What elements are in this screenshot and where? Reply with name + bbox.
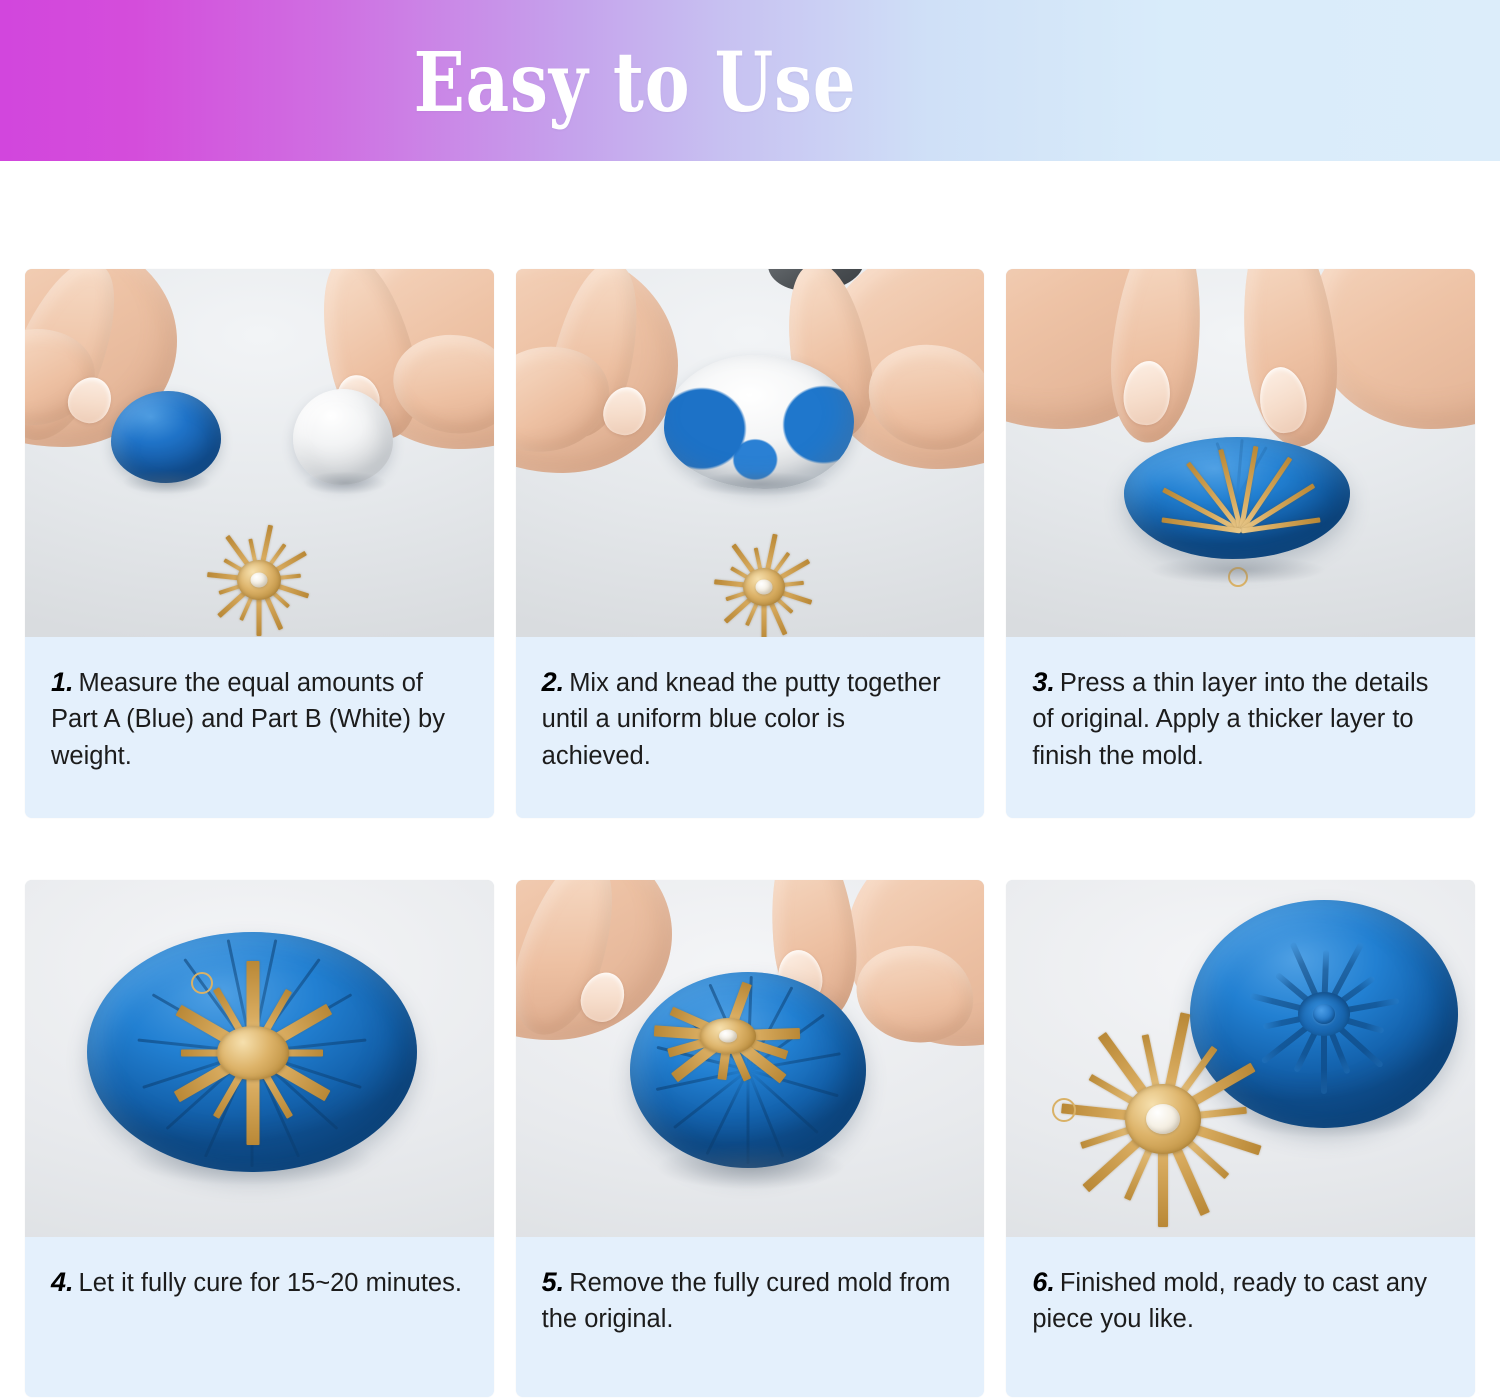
step-photo-3 [1006, 269, 1475, 637]
header-banner: Easy to Use [0, 0, 1500, 161]
mold-shadow [1116, 551, 1360, 589]
step-card-2: 2.Mix and knead the putty together until… [516, 269, 985, 818]
step-card-1: 1.Measure the equal amounts of Part A (B… [25, 269, 494, 818]
step-number: 2. [542, 667, 570, 697]
starburst-hub [217, 1026, 289, 1080]
step-number: 4. [51, 1267, 79, 1297]
pearl-center [1146, 1104, 1180, 1134]
step-caption-5: 5.Remove the fully cured mold from the o… [516, 1237, 985, 1397]
step-caption-4: 4.Let it fully cure for 15~20 minutes. [25, 1237, 494, 1397]
steps-grid: 1.Measure the equal amounts of Part A (B… [0, 269, 1500, 1397]
step-text: Remove the fully cured mold from the ori… [542, 1269, 951, 1333]
step-photo-6 [1006, 880, 1475, 1237]
starburst-pendant [1046, 1004, 1280, 1234]
step-caption-6: 6.Finished mold, ready to cast any piece… [1006, 1237, 1475, 1397]
step-text: Press a thin layer into the details of o… [1032, 669, 1428, 770]
jump-ring [191, 972, 213, 994]
step-photo-2 [516, 269, 985, 637]
step-number: 3. [1032, 667, 1060, 697]
step-number: 1. [51, 667, 79, 697]
pearl-center [755, 580, 772, 595]
starburst-pendant [179, 521, 339, 637]
step-caption-1: 1.Measure the equal amounts of Part A (B… [25, 637, 494, 818]
step-text: Let it fully cure for 15~20 minutes. [79, 1269, 462, 1297]
ball-shadow [105, 465, 229, 499]
pearl-center [251, 573, 268, 588]
mold-shadow [620, 1136, 882, 1198]
step-card-3: 3.Press a thin layer into the details of… [1006, 269, 1475, 818]
impression-pearl-cavity [1313, 1004, 1335, 1024]
step-text: Mix and knead the putty together until a… [542, 669, 941, 770]
starburst-pendant [155, 958, 351, 1148]
step-card-4: 4.Let it fully cure for 15~20 minutes. [25, 880, 494, 1397]
starburst-pendant [618, 988, 838, 1084]
step-card-5: 5.Remove the fully cured mold from the o… [516, 880, 985, 1397]
step-text: Measure the equal amounts of Part A (Blu… [51, 669, 445, 770]
step-card-6: 6.Finished mold, ready to cast any piece… [1006, 880, 1475, 1397]
step-caption-3: 3.Press a thin layer into the details of… [1006, 637, 1475, 818]
step-caption-2: 2.Mix and knead the putty together until… [516, 637, 985, 818]
jump-ring [1052, 1098, 1076, 1122]
ball-shadow [666, 467, 856, 501]
step-number: 6. [1032, 1267, 1060, 1297]
starburst-pendant [684, 531, 844, 637]
step-photo-4 [25, 880, 494, 1237]
pearl-center [719, 1029, 737, 1042]
step-number: 5. [542, 1267, 570, 1297]
step-photo-5 [516, 880, 985, 1237]
ball-shadow [287, 467, 403, 499]
page-title: Easy to Use [414, 42, 857, 124]
step-photo-1 [25, 269, 494, 637]
step-text: Finished mold, ready to cast any piece y… [1032, 1269, 1427, 1333]
